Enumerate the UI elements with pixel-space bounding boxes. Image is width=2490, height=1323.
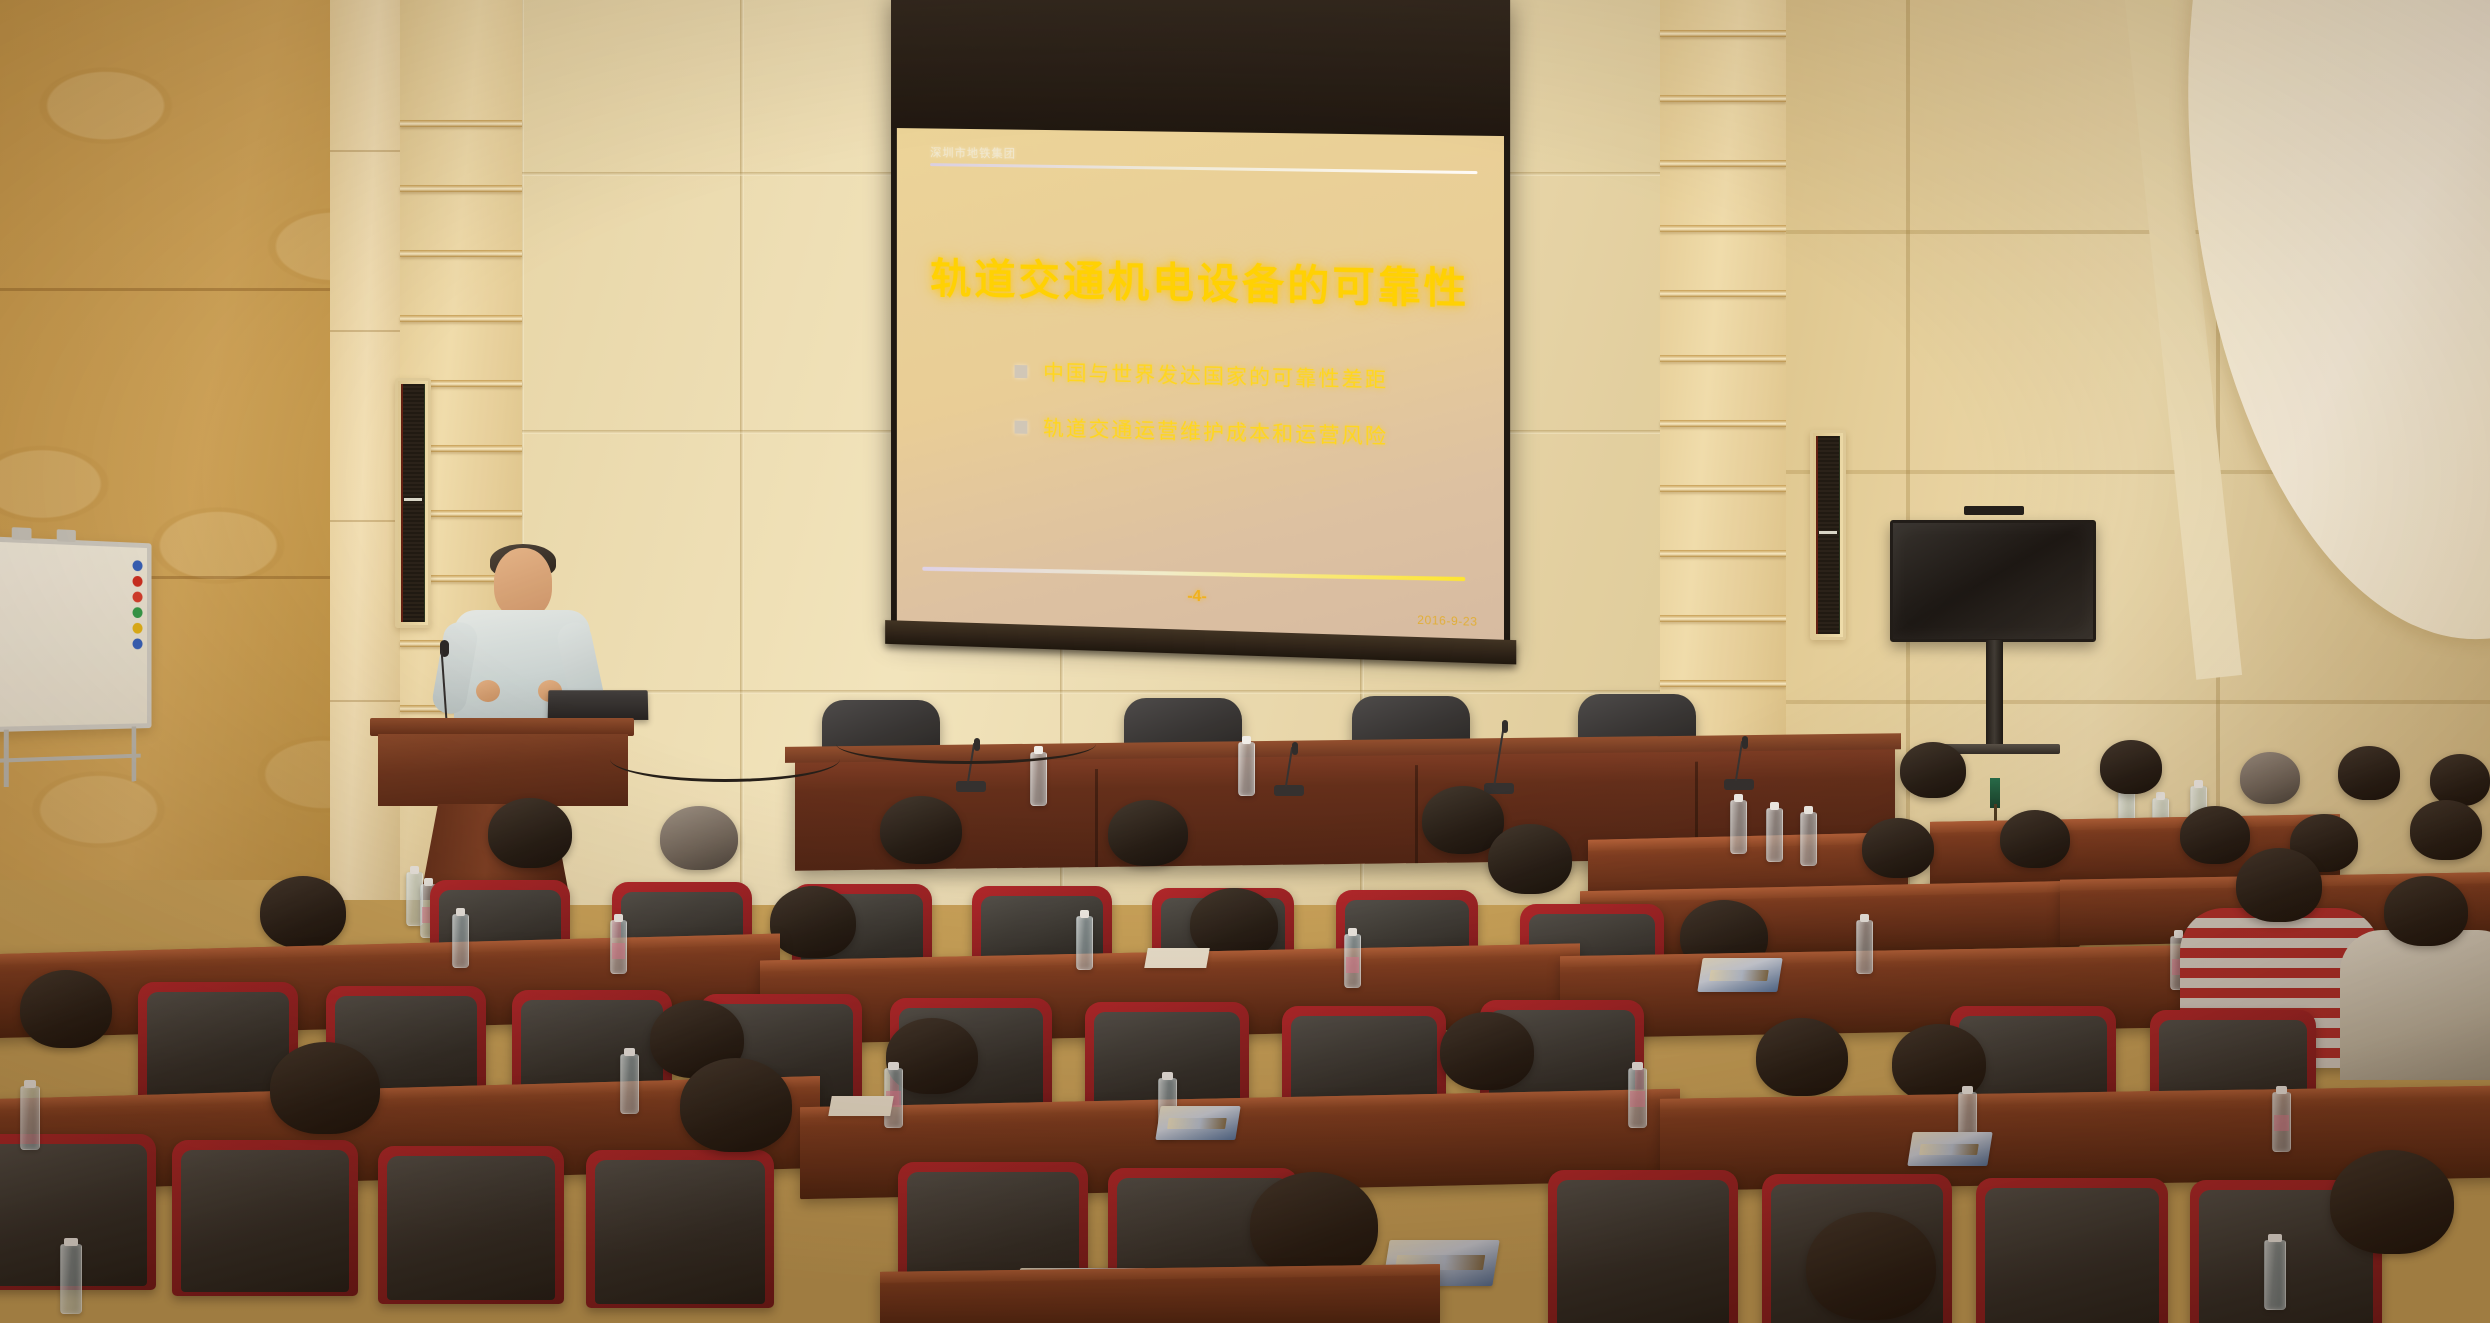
presenter-head bbox=[494, 548, 552, 618]
whiteboard[interactable] bbox=[0, 536, 152, 783]
slide-bullet-text: 中国与世界发达国家的可靠性差距 bbox=[1043, 357, 1388, 395]
whiteboard-legs bbox=[0, 726, 141, 787]
slide-bullet-list: 中国与世界发达国家的可靠性差距 轨道交通运营维护成本和运营风险 bbox=[1015, 356, 1389, 477]
auditorium-seat[interactable] bbox=[1548, 1170, 1738, 1323]
booklet-on-desk bbox=[1155, 1106, 1240, 1140]
audience-member bbox=[1862, 818, 1934, 878]
papers-on-desk bbox=[1144, 948, 1210, 968]
water-bottle bbox=[1344, 934, 1361, 988]
list-item: 中国与世界发达国家的可靠性差距 bbox=[1015, 356, 1389, 394]
presentation-slide: 深圳市地铁集团 轨道交通机电设备的可靠性 中国与世界发达国家的可靠性差距 轨道交… bbox=[897, 128, 1504, 640]
booklet-on-desk bbox=[1907, 1132, 1992, 1166]
audience-member bbox=[260, 876, 346, 948]
audience-member bbox=[1250, 1172, 1378, 1278]
tv-stand-pole bbox=[1986, 640, 2003, 750]
list-item: 轨道交通运营维护成本和运营风险 bbox=[1015, 412, 1389, 451]
audience-member bbox=[880, 796, 962, 864]
speaker-grille bbox=[1816, 436, 1840, 634]
projection-screen: 深圳市地铁集团 轨道交通机电设备的可靠性 中国与世界发达国家的可靠性差距 轨道交… bbox=[891, 0, 1510, 652]
audience-member bbox=[20, 970, 112, 1048]
water-bottle bbox=[1766, 808, 1783, 862]
slide-date: 2016-9-23 bbox=[1417, 613, 1477, 629]
podium-face bbox=[378, 734, 628, 806]
audience-member bbox=[1806, 1212, 1936, 1320]
audience-member bbox=[770, 886, 856, 958]
audience-member bbox=[2338, 746, 2400, 800]
water-bottle bbox=[452, 914, 469, 968]
audience-member bbox=[2000, 810, 2070, 868]
screen-casing bbox=[891, 0, 1510, 136]
speaker-led-icon bbox=[1819, 531, 1837, 534]
presenter-hand-left bbox=[476, 680, 500, 702]
slide-footer-rule bbox=[922, 567, 1465, 581]
auditorium-seat[interactable] bbox=[172, 1140, 358, 1296]
bullet-square-icon bbox=[1015, 420, 1028, 433]
audience-member bbox=[270, 1042, 380, 1134]
tv-monitor-assembly bbox=[1890, 520, 2096, 642]
audience-member bbox=[680, 1058, 792, 1152]
desk-flag bbox=[1990, 778, 2000, 808]
auditorium-seat[interactable] bbox=[1976, 1178, 2168, 1323]
water-bottle bbox=[1238, 742, 1255, 796]
wall-speaker-left bbox=[395, 378, 431, 628]
podium-cable bbox=[610, 736, 840, 782]
speaker-grille bbox=[401, 384, 425, 622]
water-bottle bbox=[610, 920, 627, 974]
lecture-hall-photo: 深圳市地铁集团 轨道交通机电设备的可靠性 中国与世界发达国家的可靠性差距 轨道交… bbox=[0, 0, 2490, 1323]
tv-top-bracket bbox=[1964, 506, 2024, 515]
audience-member bbox=[1756, 1018, 1848, 1096]
slide-header: 深圳市地铁集团 bbox=[930, 144, 1477, 174]
water-bottle bbox=[1076, 916, 1093, 970]
audience-member bbox=[1108, 800, 1188, 866]
audience-member bbox=[660, 806, 738, 870]
water-bottle bbox=[2272, 1092, 2291, 1152]
audience-member-head bbox=[2384, 876, 2468, 946]
audience-member bbox=[2100, 740, 2162, 794]
audience-member bbox=[2240, 752, 2300, 804]
audience-member bbox=[1900, 742, 1966, 798]
audience-member bbox=[488, 798, 572, 868]
audience-member bbox=[2430, 754, 2490, 806]
laptop[interactable] bbox=[548, 690, 649, 720]
booklet-on-desk bbox=[1697, 958, 1782, 992]
podium-microphone bbox=[440, 640, 448, 718]
audience-member bbox=[1440, 1012, 1534, 1090]
audience-desk-front bbox=[880, 1264, 1440, 1323]
whiteboard-surface[interactable] bbox=[0, 536, 152, 732]
audience-member bbox=[1488, 824, 1572, 894]
slide-title: 轨道交通机电设备的可靠性 bbox=[897, 245, 1504, 317]
water-bottle bbox=[1856, 920, 1873, 974]
table-microphone bbox=[1478, 722, 1518, 794]
table-microphone bbox=[1718, 738, 1758, 790]
audience-member-head bbox=[2236, 848, 2322, 922]
audience-member bbox=[2180, 806, 2250, 864]
table-microphone bbox=[1268, 744, 1308, 796]
water-bottle bbox=[2264, 1240, 2286, 1310]
slide-page-number: -4- bbox=[897, 579, 1504, 616]
water-bottle bbox=[620, 1054, 639, 1114]
podium-cable bbox=[836, 724, 1096, 764]
audience-member bbox=[2410, 800, 2482, 860]
water-bottle bbox=[1628, 1068, 1647, 1128]
water-bottle bbox=[60, 1244, 82, 1314]
papers-on-desk bbox=[828, 1096, 894, 1116]
water-bottle bbox=[20, 1086, 40, 1150]
wall-speaker-right bbox=[1810, 430, 1846, 640]
audience-member-plaid-shirt bbox=[2340, 930, 2490, 1080]
tv-monitor-screen[interactable] bbox=[1890, 520, 2096, 642]
slide-bullet-text: 轨道交通运营维护成本和运营风险 bbox=[1043, 412, 1388, 450]
water-bottle bbox=[1730, 800, 1747, 854]
auditorium-seat[interactable] bbox=[586, 1150, 774, 1308]
water-bottle bbox=[1800, 812, 1817, 866]
speaker-led-icon bbox=[404, 498, 422, 501]
bullet-square-icon bbox=[1015, 364, 1028, 377]
audience-member bbox=[2330, 1150, 2454, 1254]
whiteboard-magnets bbox=[133, 560, 143, 654]
auditorium-seat[interactable] bbox=[378, 1146, 564, 1304]
